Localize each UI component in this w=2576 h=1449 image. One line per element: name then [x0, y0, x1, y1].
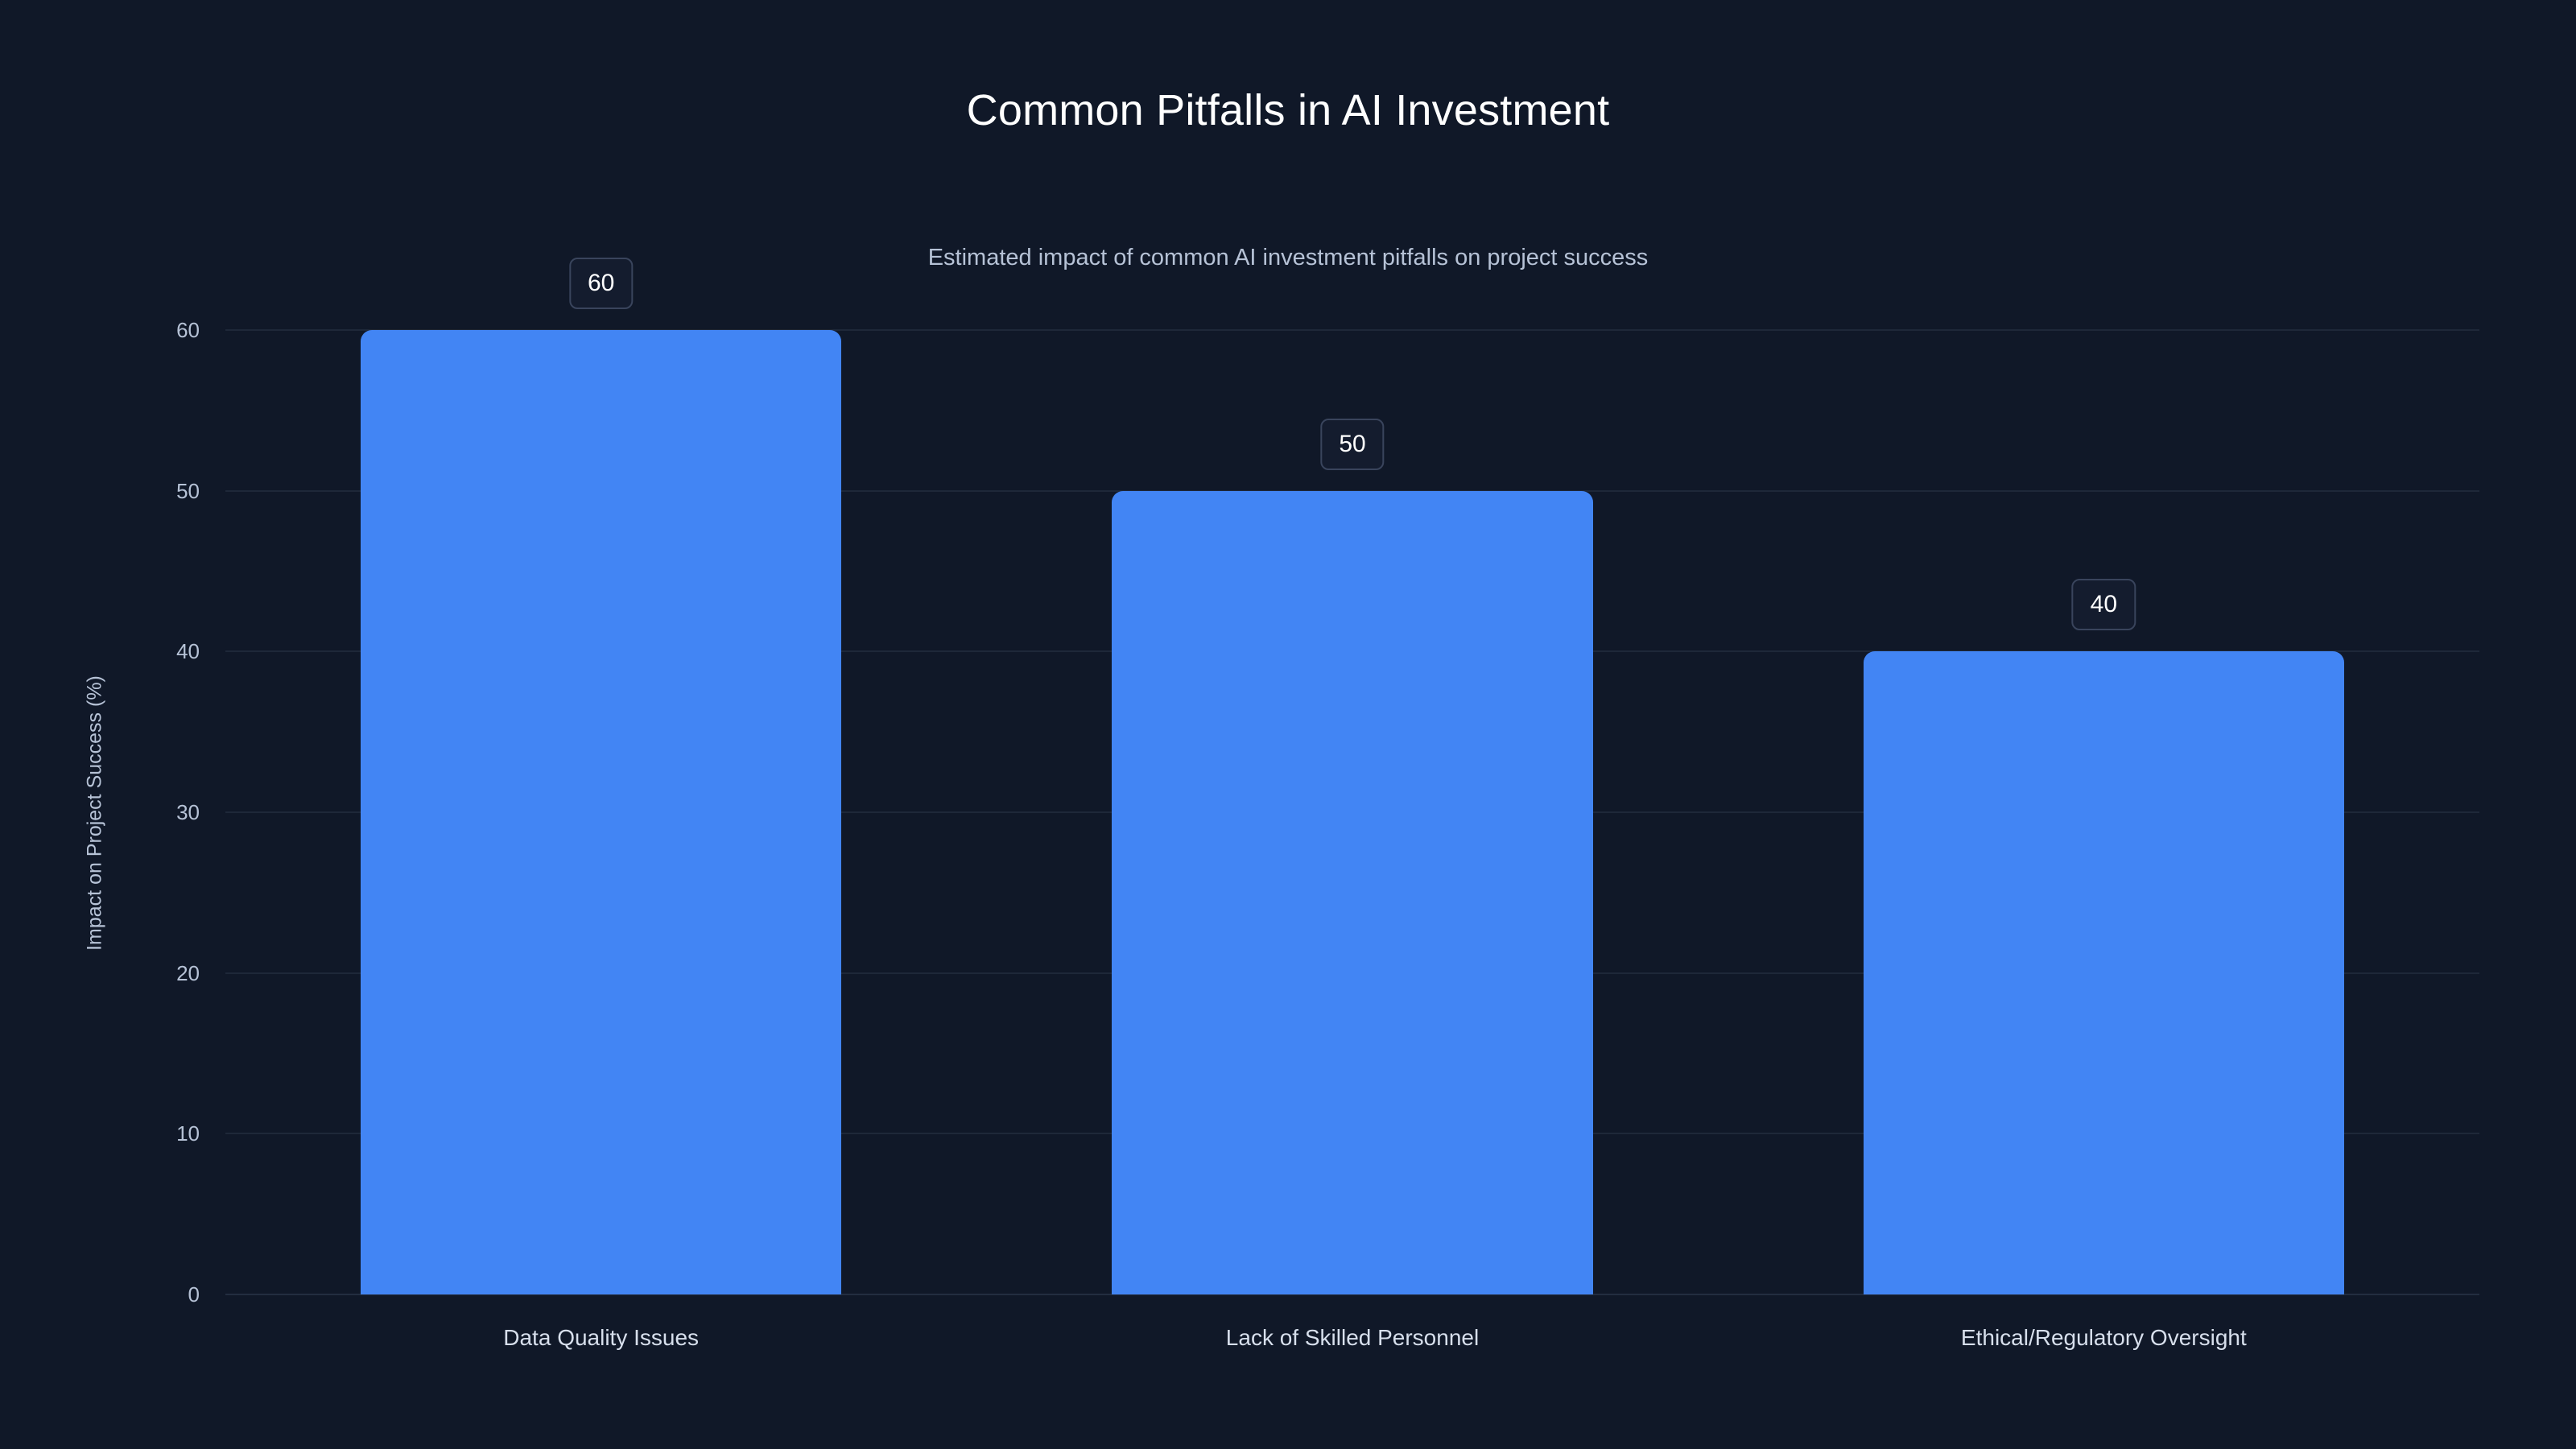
bar-value-badge: 40 — [2072, 579, 2136, 630]
bar-chart: Common Pitfalls in AI Investment Estimat… — [0, 0, 2576, 1449]
x-axis-tick-label: Data Quality Issues — [503, 1327, 699, 1349]
y-axis-tick-label: 20 — [176, 963, 200, 984]
y-axis-tick-label: 30 — [176, 802, 200, 823]
y-axis-tick-label: 10 — [176, 1123, 200, 1144]
bar[interactable] — [1112, 491, 1592, 1294]
y-axis-tick-label: 40 — [176, 641, 200, 662]
y-axis-title: Impact on Project Success (%) — [84, 675, 107, 951]
chart-subtitle: Estimated impact of common AI investment… — [0, 246, 2576, 271]
plot-area — [225, 330, 2479, 1294]
bar-value-badge: 50 — [1320, 419, 1384, 470]
y-axis-tick-label: 50 — [176, 481, 200, 502]
bar[interactable] — [361, 330, 841, 1294]
y-axis-tick-label: 0 — [188, 1284, 200, 1305]
chart-title: Common Pitfalls in AI Investment — [0, 87, 2576, 134]
bar-value-badge: 60 — [569, 258, 633, 309]
bar[interactable] — [1864, 651, 2344, 1294]
x-axis-tick-label: Lack of Skilled Personnel — [1226, 1327, 1479, 1349]
y-axis-tick-label: 60 — [176, 320, 200, 341]
x-axis-tick-label: Ethical/Regulatory Oversight — [1961, 1327, 2247, 1349]
